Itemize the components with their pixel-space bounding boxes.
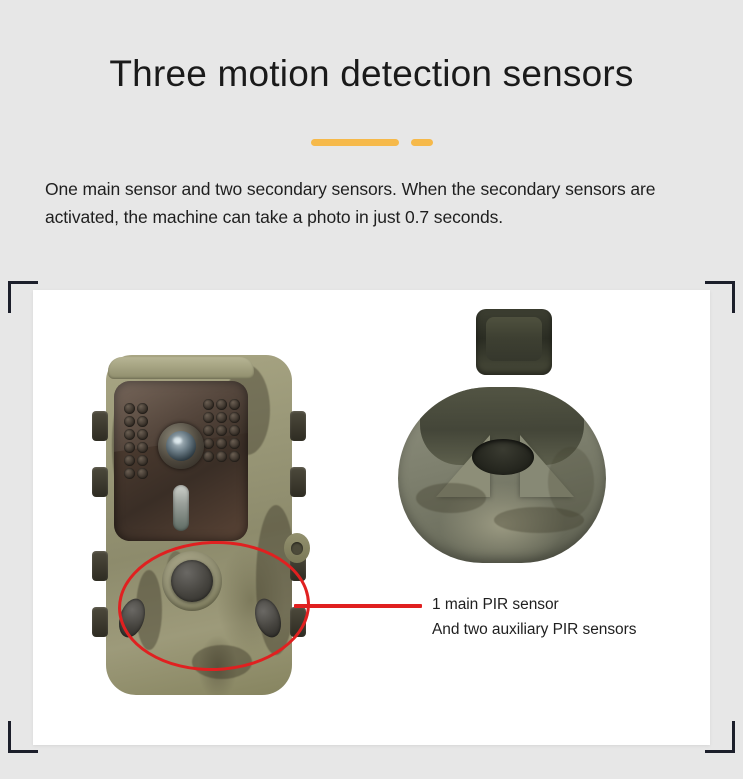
callout-line-1: 1 main PIR sensor [432,592,636,617]
side-latch [290,411,306,441]
side-latch [92,551,108,581]
main-pir-sensor-aperture [472,439,534,475]
lens-highlight [173,437,182,444]
side-latch [290,607,306,637]
sensor-callout-text: 1 main PIR sensor And two auxiliary PIR … [432,592,636,642]
light-sensor-strip [173,485,189,531]
lens-collar [476,309,552,375]
side-latch [92,467,108,497]
main-pir-sensor [171,560,213,602]
subtitle-text: One main sensor and two secondary sensor… [45,175,705,232]
divider-bar-long [311,139,399,146]
callout-pointer-line [294,604,422,608]
page-title: Three motion detection sensors [0,52,743,96]
title-divider [0,139,743,146]
trail-camera-front-photo [88,355,310,695]
side-latch [290,467,306,497]
lens-glass [166,431,196,461]
subtitle-line-1: One main sensor and two secondary sensor… [45,179,560,199]
callout-line-2: And two auxiliary PIR sensors [432,617,636,642]
trail-camera-sensor-detail-photo [398,345,606,563]
camera-lens [158,423,204,469]
sensor-housing-dome [398,387,606,563]
divider-bar-short [411,139,433,146]
ir-led-array-left [124,403,148,479]
strap-mount-hole [284,533,310,563]
side-latch [92,411,108,441]
camera-front-panel [114,381,248,541]
ir-led-array-right [203,399,240,462]
camera-top-lid [108,357,254,379]
side-latch [92,607,108,637]
